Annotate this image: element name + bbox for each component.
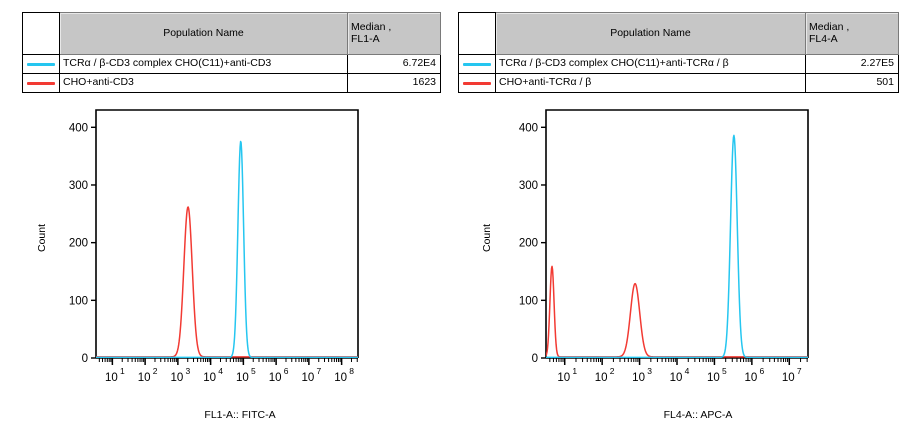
- x-axis-label: FL4-A:: APC-A: [568, 409, 828, 421]
- svg-text:2: 2: [610, 366, 615, 376]
- histogram-svg-fl4: 0100200300400101102103104105106107: [458, 104, 918, 394]
- svg-text:7: 7: [317, 366, 322, 376]
- svg-text:3: 3: [647, 366, 652, 376]
- svg-text:400: 400: [69, 122, 88, 134]
- svg-text:6: 6: [284, 366, 289, 376]
- legend-median-value: 6.72E4: [348, 55, 441, 74]
- svg-text:200: 200: [519, 238, 538, 250]
- svg-text:10: 10: [269, 372, 282, 384]
- legend-row[interactable]: TCRα / β-CD3 complex CHO(C11)+anti-CD3 6…: [23, 55, 441, 74]
- panel-fl4-apc: Population Name Median , FL4-A TCRα / β-…: [458, 0, 918, 440]
- svg-text:0: 0: [532, 353, 538, 365]
- legend-color-swatch-cyan: [27, 63, 55, 66]
- y-axis-label: Count: [481, 224, 493, 252]
- svg-text:100: 100: [519, 295, 538, 307]
- legend-median-value: 1623: [348, 74, 441, 93]
- legend-header-row: Population Name Median , FL1-A: [23, 13, 441, 55]
- svg-text:2: 2: [153, 366, 158, 376]
- legend-median-value: 501: [806, 74, 899, 93]
- svg-text:10: 10: [670, 372, 683, 384]
- legend-header-population-name: Population Name: [60, 13, 348, 55]
- svg-text:10: 10: [138, 372, 151, 384]
- svg-text:10: 10: [203, 372, 216, 384]
- legend-header-swatch-cell: [23, 13, 60, 55]
- legend-header-median-line1: Median ,: [809, 21, 849, 33]
- svg-text:4: 4: [685, 366, 690, 376]
- svg-text:1: 1: [572, 366, 577, 376]
- panel-fl1-fitc: Population Name Median , FL1-A TCRα / β-…: [0, 0, 460, 440]
- legend-table-left: Population Name Median , FL1-A TCRα / β-…: [22, 12, 441, 93]
- legend-header-median-line1: Median ,: [351, 21, 391, 33]
- legend-swatch-cyan-cell: [459, 55, 496, 74]
- svg-text:10: 10: [105, 372, 118, 384]
- svg-text:1: 1: [120, 366, 125, 376]
- svg-text:10: 10: [744, 372, 757, 384]
- y-axis-label: Count: [36, 224, 48, 252]
- svg-text:200: 200: [69, 238, 88, 250]
- legend-swatch-red-cell: [23, 74, 60, 93]
- x-axis-label: FL1-A:: FITC-A: [110, 409, 370, 421]
- histogram-plot-fl4: 0100200300400101102103104105106107: [458, 104, 918, 394]
- legend-swatch-cyan-cell: [23, 55, 60, 74]
- legend-table-right: Population Name Median , FL4-A TCRα / β-…: [458, 12, 899, 93]
- svg-text:100: 100: [69, 295, 88, 307]
- legend-header-median: Median , FL4-A: [806, 13, 899, 55]
- histogram-plot-fl1: 0100200300400101102103104105106107108: [0, 104, 460, 394]
- legend-header-median: Median , FL1-A: [348, 13, 441, 55]
- legend-color-swatch-red: [27, 82, 55, 85]
- svg-text:10: 10: [334, 372, 347, 384]
- svg-text:10: 10: [707, 372, 720, 384]
- legend-median-value: 2.27E5: [806, 55, 899, 74]
- legend-population-name: TCRα / β-CD3 complex CHO(C11)+anti-TCRα …: [496, 55, 806, 74]
- legend-population-name: CHO+anti-TCRα / β: [496, 74, 806, 93]
- svg-text:10: 10: [557, 372, 570, 384]
- legend-row[interactable]: TCRα / β-CD3 complex CHO(C11)+anti-TCRα …: [459, 55, 899, 74]
- legend-header-median-line2: FL4-A: [809, 34, 898, 46]
- histogram-svg-fl1: 0100200300400101102103104105106107108: [0, 104, 460, 394]
- legend-header-population-name: Population Name: [496, 13, 806, 55]
- svg-text:3: 3: [186, 366, 191, 376]
- legend-population-name: TCRα / β-CD3 complex CHO(C11)+anti-CD3: [60, 55, 348, 74]
- legend-color-swatch-red: [463, 82, 491, 85]
- legend-row[interactable]: CHO+anti-CD3 1623: [23, 74, 441, 93]
- svg-text:10: 10: [236, 372, 249, 384]
- legend-row[interactable]: CHO+anti-TCRα / β 501: [459, 74, 899, 93]
- svg-text:10: 10: [301, 372, 314, 384]
- svg-text:8: 8: [349, 366, 354, 376]
- legend-swatch-red-cell: [459, 74, 496, 93]
- svg-text:5: 5: [251, 366, 256, 376]
- legend-header-swatch-cell: [459, 13, 496, 55]
- svg-text:300: 300: [519, 180, 538, 192]
- svg-text:0: 0: [82, 353, 88, 365]
- legend-population-name: CHO+anti-CD3: [60, 74, 348, 93]
- svg-text:400: 400: [519, 122, 538, 134]
- legend-color-swatch-cyan: [463, 63, 491, 66]
- svg-text:10: 10: [782, 372, 795, 384]
- svg-text:4: 4: [218, 366, 223, 376]
- legend-header-row: Population Name Median , FL4-A: [459, 13, 899, 55]
- svg-text:10: 10: [170, 372, 183, 384]
- svg-text:300: 300: [69, 180, 88, 192]
- svg-text:10: 10: [632, 372, 645, 384]
- svg-text:7: 7: [797, 366, 802, 376]
- svg-text:5: 5: [722, 366, 727, 376]
- svg-text:6: 6: [759, 366, 764, 376]
- legend-header-median-line2: FL1-A: [351, 34, 440, 46]
- svg-text:10: 10: [595, 372, 608, 384]
